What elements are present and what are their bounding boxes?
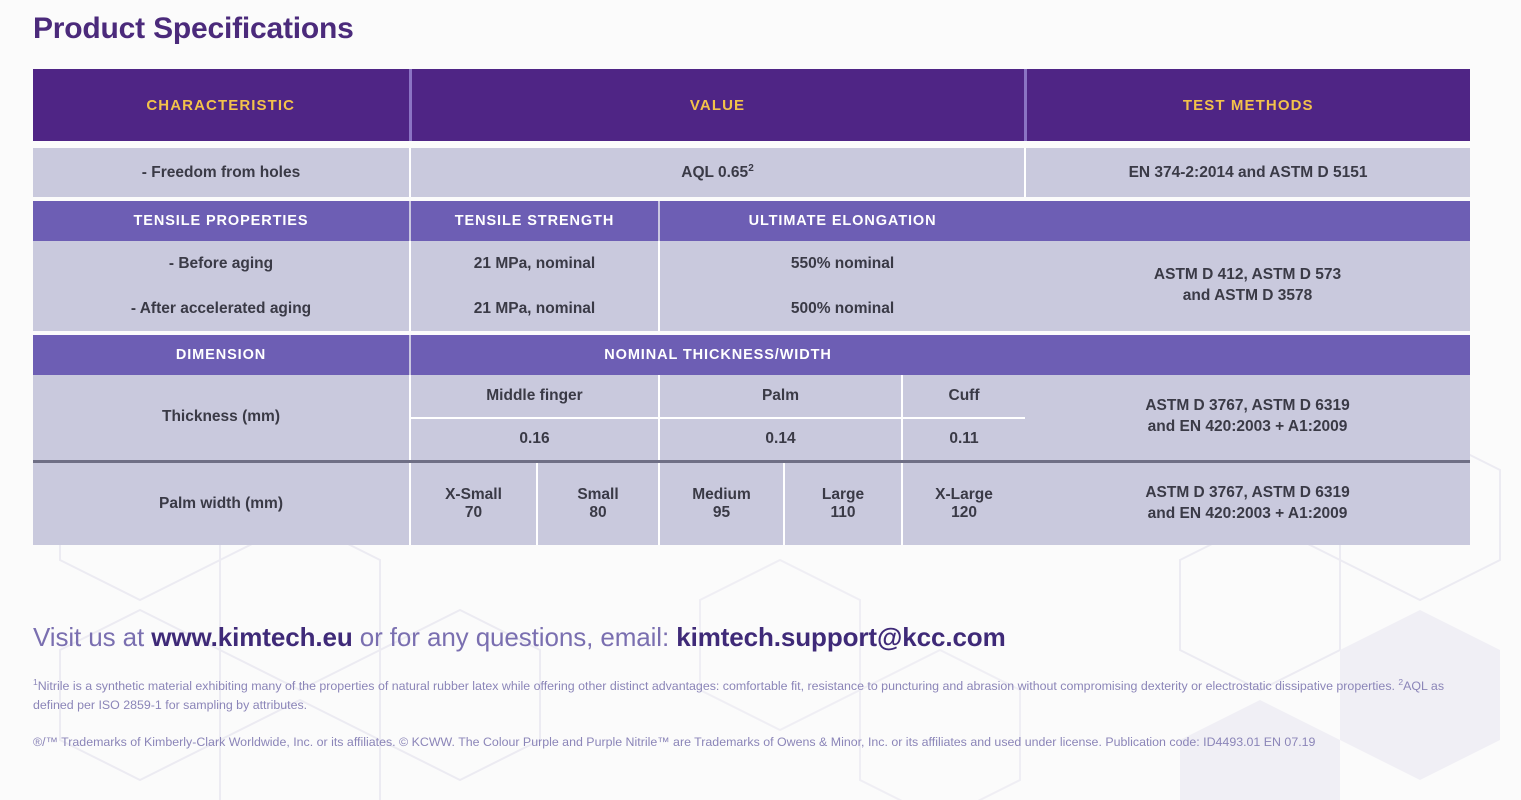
cell-palm-width-label: Palm width (mm) — [33, 461, 410, 545]
email-link[interactable]: kimtech.support@kcc.com — [676, 622, 1005, 652]
cell-thickness-value-cuff: 0.11 — [902, 418, 1025, 461]
product-specifications-page: Product Specifications CHARACTERISTIC VA… — [0, 0, 1521, 800]
subheader-dimension-blank — [1025, 335, 1470, 375]
tensile-test-method-line2: and ASTM D 3578 — [1025, 286, 1470, 307]
palm-width-test-method-line1: ASTM D 3767, ASTM D 6319 — [1025, 483, 1470, 504]
palm-width-size-small: Small — [538, 486, 658, 504]
cell-thickness-col-cuff: Cuff — [902, 375, 1025, 418]
cell-thickness-value-middle-finger: 0.16 — [410, 418, 659, 461]
contact-line: Visit us at www.kimtech.eu or for any qu… — [33, 622, 1006, 653]
thickness-test-method-line2: and EN 420:2003 + A1:2009 — [1025, 417, 1470, 438]
cell-thickness-test-method: ASTM D 3767, ASTM D 6319 and EN 420:2003… — [1025, 375, 1470, 461]
subheader-row-tensile: TENSILE PROPERTIES TENSILE STRENGTH ULTI… — [33, 201, 1470, 241]
trademark-paragraph: ®/™ Trademarks of Kimberly-Clark Worldwi… — [33, 733, 1453, 752]
cell-freedom-from-holes-test-method: EN 374-2:2014 and ASTM D 5151 — [1025, 148, 1470, 197]
cell-thickness-col-palm: Palm — [659, 375, 902, 418]
product-specifications-table: CHARACTERISTIC VALUE TEST METHODS - Free… — [33, 69, 1470, 545]
cell-freedom-from-holes-value: AQL 0.652 — [410, 148, 1025, 197]
cell-before-aging-strength: 21 MPa, nominal — [410, 241, 659, 286]
cell-thickness-label: Thickness (mm) — [33, 375, 410, 461]
table-row-freedom-from-holes: - Freedom from holes AQL 0.652 EN 374-2:… — [33, 148, 1470, 197]
cell-palm-width-medium: Medium 95 — [659, 461, 784, 545]
footnote-paragraph: 1Nitrile is a synthetic material exhibit… — [33, 676, 1453, 716]
subheader-dimension: DIMENSION — [33, 335, 410, 375]
table-row-thickness-columns: Thickness (mm) Middle finger Palm Cuff A… — [33, 375, 1470, 418]
cell-before-aging-label: - Before aging — [33, 241, 410, 286]
cell-palm-width-test-method: ASTM D 3767, ASTM D 6319 and EN 420:2003… — [1025, 461, 1470, 545]
palm-width-size-medium: Medium — [660, 486, 783, 504]
subheader-row-dimension: DIMENSION NOMINAL THICKNESS/WIDTH — [33, 335, 1470, 375]
palm-width-value-xsmall: 70 — [411, 504, 536, 522]
table-row-before-aging: - Before aging 21 MPa, nominal 550% nomi… — [33, 241, 1470, 286]
cell-palm-width-small: Small 80 — [537, 461, 659, 545]
aql-value: AQL 0.65 — [681, 164, 748, 181]
palm-width-value-xlarge: 120 — [903, 504, 1025, 522]
header-characteristic: CHARACTERISTIC — [33, 69, 410, 141]
palm-width-size-xlarge: X-Large — [903, 486, 1025, 504]
page-title: Product Specifications — [33, 12, 354, 46]
header-gap-row — [33, 141, 1470, 148]
cell-after-aging-elongation: 500% nominal — [659, 286, 1025, 331]
cell-freedom-from-holes-label: - Freedom from holes — [33, 148, 410, 197]
visit-middle-text: or for any questions, email: — [353, 622, 677, 652]
header-test-methods: TEST METHODS — [1025, 69, 1470, 141]
palm-width-size-xsmall: X-Small — [411, 486, 536, 504]
cell-after-aging-label: - After accelerated aging — [33, 286, 410, 331]
cell-before-aging-elongation: 550% nominal — [659, 241, 1025, 286]
cell-palm-width-xlarge: X-Large 120 — [902, 461, 1025, 545]
cell-tensile-test-method: ASTM D 412, ASTM D 573 and ASTM D 3578 — [1025, 241, 1470, 331]
aql-superscript: 2 — [748, 163, 754, 174]
subheader-ultimate-elongation: ULTIMATE ELONGATION — [659, 201, 1025, 241]
table-header-row: CHARACTERISTIC VALUE TEST METHODS — [33, 69, 1470, 141]
subheader-tensile-blank — [1025, 201, 1470, 241]
spacer — [33, 141, 1470, 148]
palm-width-test-method-line2: and EN 420:2003 + A1:2009 — [1025, 504, 1470, 525]
palm-width-value-medium: 95 — [660, 504, 783, 522]
cell-thickness-value-palm: 0.14 — [659, 418, 902, 461]
header-value: VALUE — [410, 69, 1025, 141]
tensile-test-method-line1: ASTM D 412, ASTM D 573 — [1025, 265, 1470, 286]
thickness-test-method-line1: ASTM D 3767, ASTM D 6319 — [1025, 396, 1470, 417]
palm-width-size-large: Large — [785, 486, 901, 504]
visit-prefix-text: Visit us at — [33, 622, 151, 652]
palm-width-value-large: 110 — [785, 504, 901, 522]
website-link[interactable]: www.kimtech.eu — [151, 622, 352, 652]
cell-thickness-col-middle-finger: Middle finger — [410, 375, 659, 418]
subheader-tensile-properties: TENSILE PROPERTIES — [33, 201, 410, 241]
footnote-1-text: Nitrile is a synthetic material exhibiti… — [38, 679, 1395, 693]
table-row-palm-width: Palm width (mm) X-Small 70 Small 80 Medi… — [33, 461, 1470, 545]
cell-after-aging-strength: 21 MPa, nominal — [410, 286, 659, 331]
cell-palm-width-large: Large 110 — [784, 461, 902, 545]
cell-palm-width-xsmall: X-Small 70 — [410, 461, 537, 545]
subheader-tensile-strength: TENSILE STRENGTH — [410, 201, 659, 241]
palm-width-value-small: 80 — [538, 504, 658, 522]
subheader-nominal-thickness-width: NOMINAL THICKNESS/WIDTH — [410, 335, 1025, 375]
spec-table-container: CHARACTERISTIC VALUE TEST METHODS - Free… — [33, 69, 1470, 545]
